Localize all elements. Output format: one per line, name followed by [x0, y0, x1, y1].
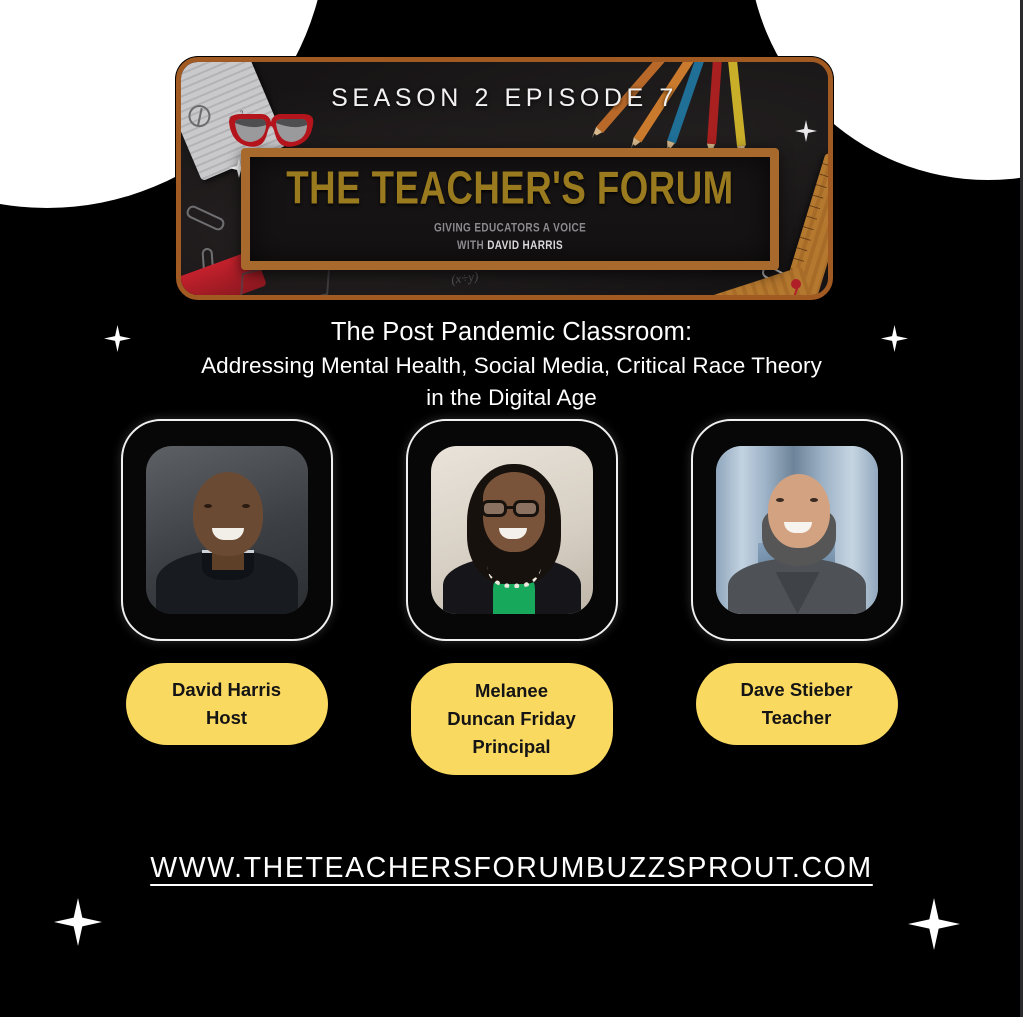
pushpin-icon	[791, 279, 801, 289]
episode-title-line-1: The Post Pandemic Classroom:	[0, 316, 1023, 350]
guest-photo	[146, 446, 308, 614]
guest-photo-frame	[121, 419, 333, 641]
podcast-logo-card: 2x² ρω² (x÷y) SEASON 2 EPISODE 7 THE TEA…	[176, 57, 833, 300]
episode-title-line-2: Addressing Mental Health, Social Media, …	[0, 350, 1023, 382]
host-name: DAVID HARRIS	[487, 239, 563, 252]
tagline-line: GIVING EDUCATORS A VOICE	[434, 220, 586, 238]
guest-name: Dave Stieber	[712, 676, 882, 704]
glasses-icon	[225, 108, 317, 156]
website-url[interactable]: WWW.THETEACHERSFORUMBUZZSPROUT.COM	[0, 852, 1023, 885]
guest-name: Melanee	[427, 677, 597, 705]
guest-photo	[716, 446, 878, 614]
podcast-episode-poster: 2x² ρω² (x÷y) SEASON 2 EPISODE 7 THE TEA…	[0, 0, 1023, 1017]
guest-name: David Harris	[142, 676, 312, 704]
guest-name-badge: Melanee Duncan Friday Principal	[411, 663, 613, 775]
show-title: THE TEACHER'S FORUM	[286, 165, 733, 211]
guest-name-badge: Dave Stieber Teacher	[696, 663, 898, 745]
host-line: WITH DAVID HARRIS	[434, 238, 586, 256]
guest-card: David Harris Host	[121, 419, 333, 775]
guest-photo	[431, 446, 593, 614]
guest-name-line-2: Duncan Friday	[427, 705, 597, 733]
guest-card: Melanee Duncan Friday Principal	[406, 419, 618, 775]
chalkboard-panel: THE TEACHER'S FORUM GIVING EDUCATORS A V…	[241, 148, 779, 270]
episode-title: The Post Pandemic Classroom: Addressing …	[0, 316, 1023, 414]
host-prefix: WITH	[457, 239, 487, 252]
guest-name-badge: David Harris Host	[126, 663, 328, 745]
guest-role: Principal	[427, 733, 597, 761]
guest-photo-frame	[406, 419, 618, 641]
guest-role: Host	[142, 704, 312, 732]
guest-card: Dave Stieber Teacher	[691, 419, 903, 775]
guest-list: David Harris Host	[0, 419, 1023, 775]
show-tagline: GIVING EDUCATORS A VOICE WITH DAVID HARR…	[434, 220, 586, 255]
episode-title-line-3: in the Digital Age	[0, 382, 1023, 414]
guest-role: Teacher	[712, 704, 882, 732]
guest-photo-frame	[691, 419, 903, 641]
